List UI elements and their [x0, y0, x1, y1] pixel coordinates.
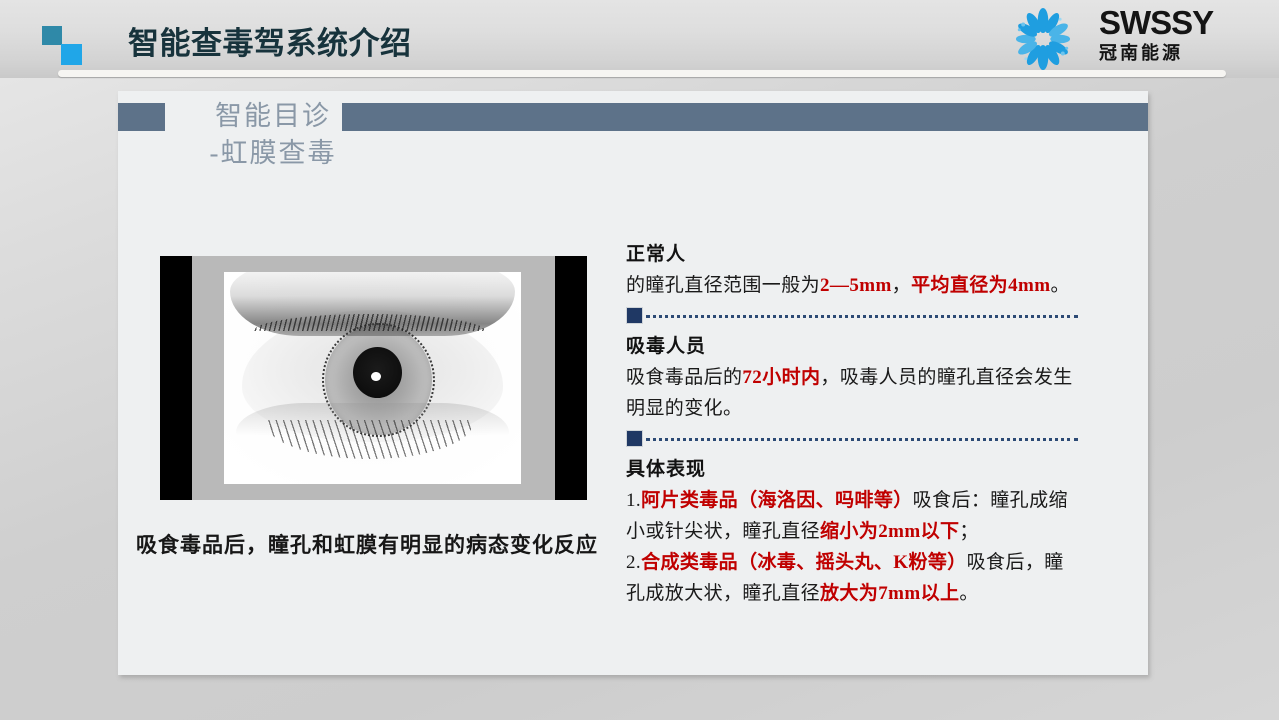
section-divider: [626, 428, 1078, 450]
section-title: 智能目诊 -虹膜查毒: [198, 98, 348, 172]
section-divider: [626, 305, 1078, 327]
block-heading: 具体表现: [626, 454, 1078, 481]
list-item-text: 。: [959, 583, 978, 604]
body-part-highlight: 2—5mm: [820, 275, 892, 296]
grayscale-eye-photo: [224, 272, 521, 484]
brand-name: SWSSY: [1099, 6, 1255, 40]
section-bar-left: [118, 103, 165, 131]
body-part: 吸食毒品后的: [626, 367, 742, 388]
section-bar-right: [342, 103, 1148, 131]
slide: 智能查毒驾系统介绍: [0, 0, 1279, 720]
block-specific-symptoms: 具体表现 1.阿片类毒品（海洛因、吗啡等）吸食后：瞳孔成缩小或针尖状，瞳孔直径缩…: [626, 454, 1078, 609]
divider-dotted-line: [646, 315, 1078, 318]
eye-figure-frame: [192, 256, 555, 500]
body-part: 的瞳孔直径范围一般为: [626, 275, 820, 296]
square-dark-icon: [42, 26, 62, 45]
square-light-icon: [61, 44, 82, 65]
brand-logo: SWSSY 冠南能源: [995, 4, 1257, 72]
list-item-highlight: 放大为7mm以上: [820, 583, 959, 604]
slide-content-panel: 智能目诊 -虹膜查毒 吸食毒品后，瞳孔和虹膜有明显的病态变化反应: [118, 91, 1148, 675]
block-normal-person: 正常人 的瞳孔直径范围一般为2—5mm，平均直径为4mm。: [626, 239, 1078, 301]
section-title-line1: 智能目诊: [215, 101, 331, 131]
divider-square-icon: [626, 307, 643, 324]
divider-dotted-line: [646, 438, 1078, 441]
page-title: 智能查毒驾系统介绍: [128, 18, 412, 63]
list-item-text: ；: [959, 521, 978, 542]
list-item-number: 1.: [626, 490, 641, 511]
brand-subtitle: 冠南能源: [1099, 40, 1255, 66]
list-item-highlight: 合成类毒品（冰毒、摇头丸、K粉等）: [641, 552, 967, 573]
brand-text: SWSSY 冠南能源: [1099, 6, 1255, 66]
block-body: 的瞳孔直径范围一般为2—5mm，平均直径为4mm。: [626, 270, 1078, 301]
list-item: 1.阿片类毒品（海洛因、吗啡等）吸食后：瞳孔成缩小或针尖状，瞳孔直径缩小为2mm…: [626, 485, 1078, 547]
body-part-highlight: 平均直径为4mm: [911, 275, 1050, 296]
list-item-highlight: 阿片类毒品（海洛因、吗啡等）: [641, 490, 913, 511]
slide-header: 智能查毒驾系统介绍: [0, 0, 1279, 78]
block-drug-user: 吸毒人员 吸食毒品后的72小时内，吸毒人员的瞳孔直径会发生明显的变化。: [626, 331, 1078, 424]
swssy-petal-logo-icon: [995, 6, 1091, 72]
content-column: 正常人 的瞳孔直径范围一般为2—5mm，平均直径为4mm。 吸毒人员 吸食毒品后…: [626, 239, 1078, 609]
block-body: 吸食毒品后的72小时内，吸毒人员的瞳孔直径会发生明显的变化。: [626, 362, 1078, 424]
block-heading: 吸毒人员: [626, 331, 1078, 358]
divider-square-icon: [626, 430, 643, 447]
two-squares-icon: [42, 26, 88, 66]
section-title-line2: -虹膜查毒: [198, 135, 348, 172]
list-item-number: 2.: [626, 552, 641, 573]
body-part: 。: [1050, 275, 1069, 296]
list-item: 2.合成类毒品（冰毒、摇头丸、K粉等）吸食后，瞳孔成放大状，瞳孔直径放大为7mm…: [626, 547, 1078, 609]
block-heading: 正常人: [626, 239, 1078, 266]
eye-lower-lashes: [266, 420, 474, 458]
list-item-highlight: 缩小为2mm以下: [820, 521, 959, 542]
eye-figure: [160, 256, 587, 500]
figure-caption: 吸食毒品后，瞳孔和虹膜有明显的病态变化反应: [136, 529, 636, 559]
body-part: ，: [892, 275, 911, 296]
body-part-highlight: 72小时内: [742, 367, 820, 388]
